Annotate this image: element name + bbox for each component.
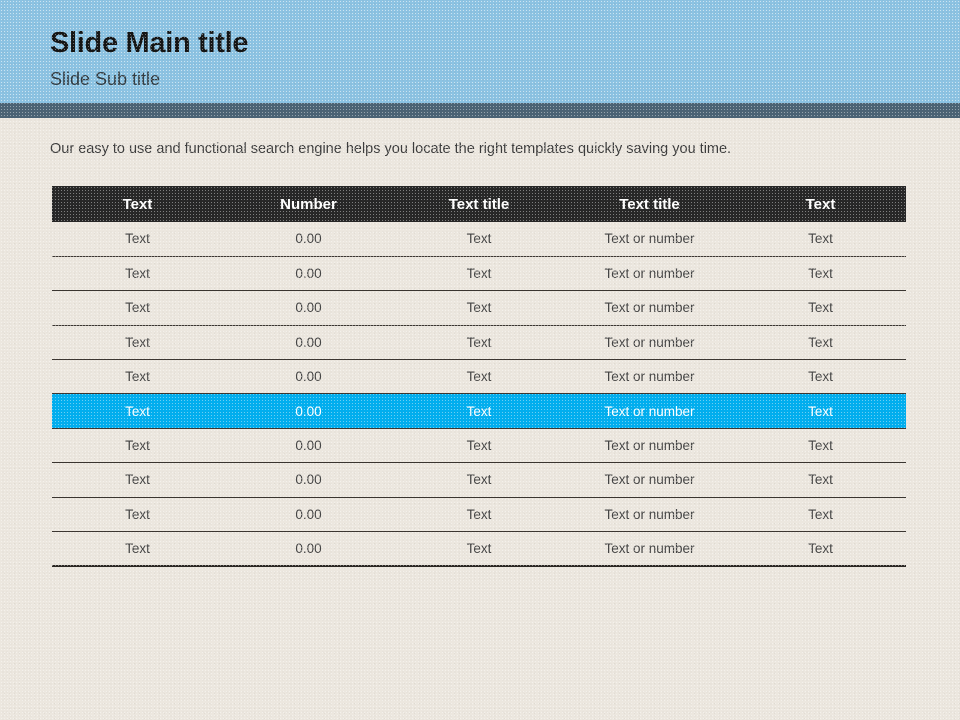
- table-cell: 0.00: [223, 532, 394, 566]
- table-cell: 0.00: [223, 360, 394, 394]
- table-cell: Text: [735, 360, 906, 394]
- table-cell: 0.00: [223, 428, 394, 462]
- table-body: Text0.00TextText or numberTextText0.00Te…: [52, 222, 906, 566]
- table-row[interactable]: Text0.00TextText or numberText: [52, 256, 906, 290]
- intro-paragraph: Our easy to use and functional search en…: [50, 140, 920, 159]
- table-cell: 0.00: [223, 463, 394, 497]
- table-cell: Text: [52, 463, 223, 497]
- table-row[interactable]: Text0.00TextText or numberText: [52, 222, 906, 256]
- table-row[interactable]: Text0.00TextText or numberText: [52, 497, 906, 531]
- table-cell: Text or number: [564, 463, 735, 497]
- table-cell: Text or number: [564, 325, 735, 359]
- table-cell: 0.00: [223, 394, 394, 428]
- column-header-3[interactable]: Text title: [564, 186, 735, 222]
- table-cell: 0.00: [223, 222, 394, 256]
- table-cell: Text: [735, 222, 906, 256]
- data-table-container: TextNumberText titleText titleText Text0…: [52, 186, 906, 567]
- header-divider-bar: [0, 103, 960, 118]
- table-header-row: TextNumberText titleText titleText: [52, 186, 906, 222]
- table-cell: Text: [735, 428, 906, 462]
- table-row[interactable]: Text0.00TextText or numberText: [52, 325, 906, 359]
- table-cell: Text: [735, 532, 906, 566]
- table-cell: Text: [52, 428, 223, 462]
- table-cell: Text: [394, 463, 564, 497]
- column-header-1[interactable]: Number: [223, 186, 394, 222]
- table-cell: Text: [735, 394, 906, 428]
- table-cell: Text: [394, 428, 564, 462]
- table-cell: Text: [394, 291, 564, 325]
- table-cell: Text: [394, 256, 564, 290]
- column-header-2[interactable]: Text title: [394, 186, 564, 222]
- slide-header-band: Slide Main title Slide Sub title: [0, 0, 960, 103]
- table-cell: Text: [735, 291, 906, 325]
- table-cell: Text or number: [564, 497, 735, 531]
- table-cell: Text: [52, 325, 223, 359]
- table-cell: Text: [394, 325, 564, 359]
- table-cell: Text or number: [564, 291, 735, 325]
- table-row[interactable]: Text0.00TextText or numberText: [52, 291, 906, 325]
- table-cell: Text: [735, 256, 906, 290]
- table-row-highlighted[interactable]: Text0.00TextText or numberText: [52, 394, 906, 428]
- table-row[interactable]: Text0.00TextText or numberText: [52, 428, 906, 462]
- table-cell: 0.00: [223, 291, 394, 325]
- table-cell: Text: [52, 222, 223, 256]
- table-row[interactable]: Text0.00TextText or numberText: [52, 463, 906, 497]
- table-row[interactable]: Text0.00TextText or numberText: [52, 360, 906, 394]
- table-cell: 0.00: [223, 256, 394, 290]
- table-cell: Text: [52, 532, 223, 566]
- table-cell: Text or number: [564, 428, 735, 462]
- table-cell: Text: [394, 394, 564, 428]
- table-cell: Text: [52, 256, 223, 290]
- table-cell: Text: [735, 463, 906, 497]
- table-cell: Text or number: [564, 394, 735, 428]
- table-cell: Text or number: [564, 360, 735, 394]
- table-cell: Text: [735, 325, 906, 359]
- table-cell: 0.00: [223, 325, 394, 359]
- table-cell: Text: [52, 394, 223, 428]
- page-title: Slide Main title: [50, 29, 248, 58]
- table-cell: 0.00: [223, 497, 394, 531]
- table-cell: Text: [394, 222, 564, 256]
- table-row[interactable]: Text0.00TextText or numberText: [52, 532, 906, 566]
- column-header-4[interactable]: Text: [735, 186, 906, 222]
- column-header-0[interactable]: Text: [52, 186, 223, 222]
- table-cell: Text or number: [564, 222, 735, 256]
- data-table: TextNumberText titleText titleText Text0…: [52, 186, 906, 567]
- table-cell: Text: [52, 291, 223, 325]
- table-cell: Text: [735, 497, 906, 531]
- table-cell: Text: [52, 497, 223, 531]
- table-cell: Text or number: [564, 532, 735, 566]
- table-cell: Text: [52, 360, 223, 394]
- table-cell: Text: [394, 532, 564, 566]
- page-subtitle: Slide Sub title: [50, 70, 160, 88]
- table-header: TextNumberText titleText titleText: [52, 186, 906, 222]
- table-cell: Text or number: [564, 256, 735, 290]
- table-cell: Text: [394, 360, 564, 394]
- table-cell: Text: [394, 497, 564, 531]
